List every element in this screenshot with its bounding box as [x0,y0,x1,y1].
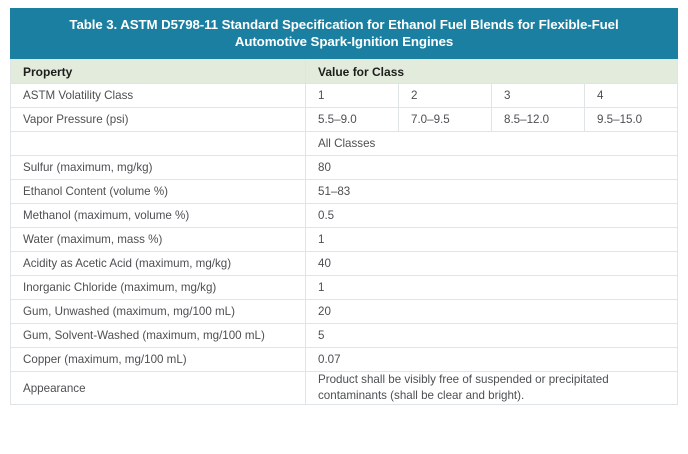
column-header-property: Property [11,60,306,84]
cell-value-sulfur: 80 [306,156,678,180]
row-label-appearance: Appearance [11,372,306,405]
row-label-acidity: Acidity as Acetic Acid (maximum, mg/kg) [11,252,306,276]
table-subheader-row-all-classes: All Classes [11,132,678,156]
cell-vapor-pressure-2: 7.0–9.5 [399,108,492,132]
cell-volatility-class-2: 2 [399,84,492,108]
cell-value-appearance: Product shall be visibly free of suspend… [306,372,678,405]
row-label-sulfur: Sulfur (maximum, mg/kg) [11,156,306,180]
table-row: Gum, Unwashed (maximum, mg/100 mL) 20 [11,300,678,324]
cell-value-acidity: 40 [306,252,678,276]
empty-property-cell [11,132,306,156]
row-label-methanol: Methanol (maximum, volume %) [11,204,306,228]
table-row: Ethanol Content (volume %) 51–83 [11,180,678,204]
table-row: Inorganic Chloride (maximum, mg/kg) 1 [11,276,678,300]
table-row-appearance: Appearance Product shall be visibly free… [11,372,678,405]
row-label-ethanol-content: Ethanol Content (volume %) [11,180,306,204]
row-label-copper: Copper (maximum, mg/100 mL) [11,348,306,372]
table-row: ASTM Volatility Class 1 2 3 4 [11,84,678,108]
table-title: Table 3. ASTM D5798-11 Standard Specific… [10,8,678,59]
cell-vapor-pressure-1: 5.5–9.0 [306,108,399,132]
row-label-gum-solvent-washed: Gum, Solvent-Washed (maximum, mg/100 mL) [11,324,306,348]
cell-vapor-pressure-4: 9.5–15.0 [585,108,678,132]
cell-value-ethanol-content: 51–83 [306,180,678,204]
cell-value-copper: 0.07 [306,348,678,372]
table-header-row: Property Value for Class [11,60,678,84]
cell-volatility-class-4: 4 [585,84,678,108]
cell-volatility-class-1: 1 [306,84,399,108]
cell-value-methanol: 0.5 [306,204,678,228]
cell-value-gum-unwashed: 20 [306,300,678,324]
cell-volatility-class-3: 3 [492,84,585,108]
table-row: Vapor Pressure (psi) 5.5–9.0 7.0–9.5 8.5… [11,108,678,132]
spec-table-container: Table 3. ASTM D5798-11 Standard Specific… [10,8,678,405]
row-label-water: Water (maximum, mass %) [11,228,306,252]
table-row: Gum, Solvent-Washed (maximum, mg/100 mL)… [11,324,678,348]
cell-value-inorganic-chloride: 1 [306,276,678,300]
table-row: Sulfur (maximum, mg/kg) 80 [11,156,678,180]
cell-vapor-pressure-3: 8.5–12.0 [492,108,585,132]
row-label-vapor-pressure: Vapor Pressure (psi) [11,108,306,132]
table-row: Water (maximum, mass %) 1 [11,228,678,252]
column-header-all-classes: All Classes [306,132,678,156]
table-row: Copper (maximum, mg/100 mL) 0.07 [11,348,678,372]
specification-table: Property Value for Class ASTM Volatility… [10,59,678,405]
cell-value-water: 1 [306,228,678,252]
table-row: Methanol (maximum, volume %) 0.5 [11,204,678,228]
row-label-inorganic-chloride: Inorganic Chloride (maximum, mg/kg) [11,276,306,300]
row-label-astm-volatility-class: ASTM Volatility Class [11,84,306,108]
table-row: Acidity as Acetic Acid (maximum, mg/kg) … [11,252,678,276]
column-header-value-for-class: Value for Class [306,60,678,84]
row-label-gum-unwashed: Gum, Unwashed (maximum, mg/100 mL) [11,300,306,324]
cell-value-gum-solvent-washed: 5 [306,324,678,348]
